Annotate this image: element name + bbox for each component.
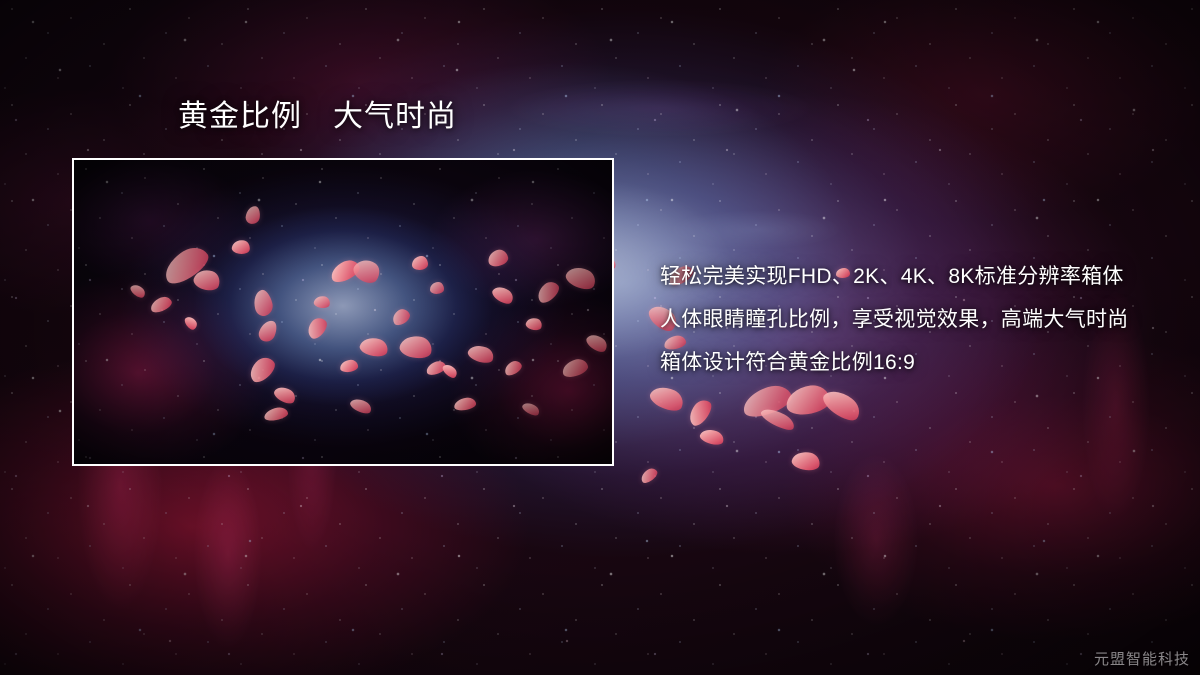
watermark: 元盟智能科技: [1094, 648, 1190, 669]
rose-petal: [698, 427, 725, 448]
presentation-slide: 黄金比例 大气时尚 轻松完美实现FHD、2K、4K、8K标准分辨率箱体 人体眼睛…: [0, 0, 1200, 675]
body-line-1: 轻松完美实现FHD、2K、4K、8K标准分辨率箱体: [660, 255, 1170, 298]
page-title: 黄金比例 大气时尚: [178, 99, 457, 135]
rose-petal: [647, 382, 687, 415]
framed-image-vignette: [74, 160, 612, 464]
rose-petal: [759, 404, 797, 433]
rose-petal: [819, 384, 864, 425]
rose-petal: [739, 381, 795, 421]
rose-petal: [685, 396, 716, 429]
rose-petal: [784, 383, 831, 417]
rose-petal: [638, 466, 659, 485]
body-text-block: 轻松完美实现FHD、2K、4K、8K标准分辨率箱体 人体眼睛瞳孔比例，享受视觉效…: [660, 255, 1170, 384]
body-line-3: 箱体设计符合黄金比例16:9: [660, 341, 1170, 384]
body-line-2: 人体眼睛瞳孔比例，享受视觉效果，高端大气时尚: [660, 298, 1170, 341]
framed-image-inner: [74, 160, 612, 464]
rose-petal: [790, 449, 821, 472]
framed-image[interactable]: [72, 158, 614, 466]
